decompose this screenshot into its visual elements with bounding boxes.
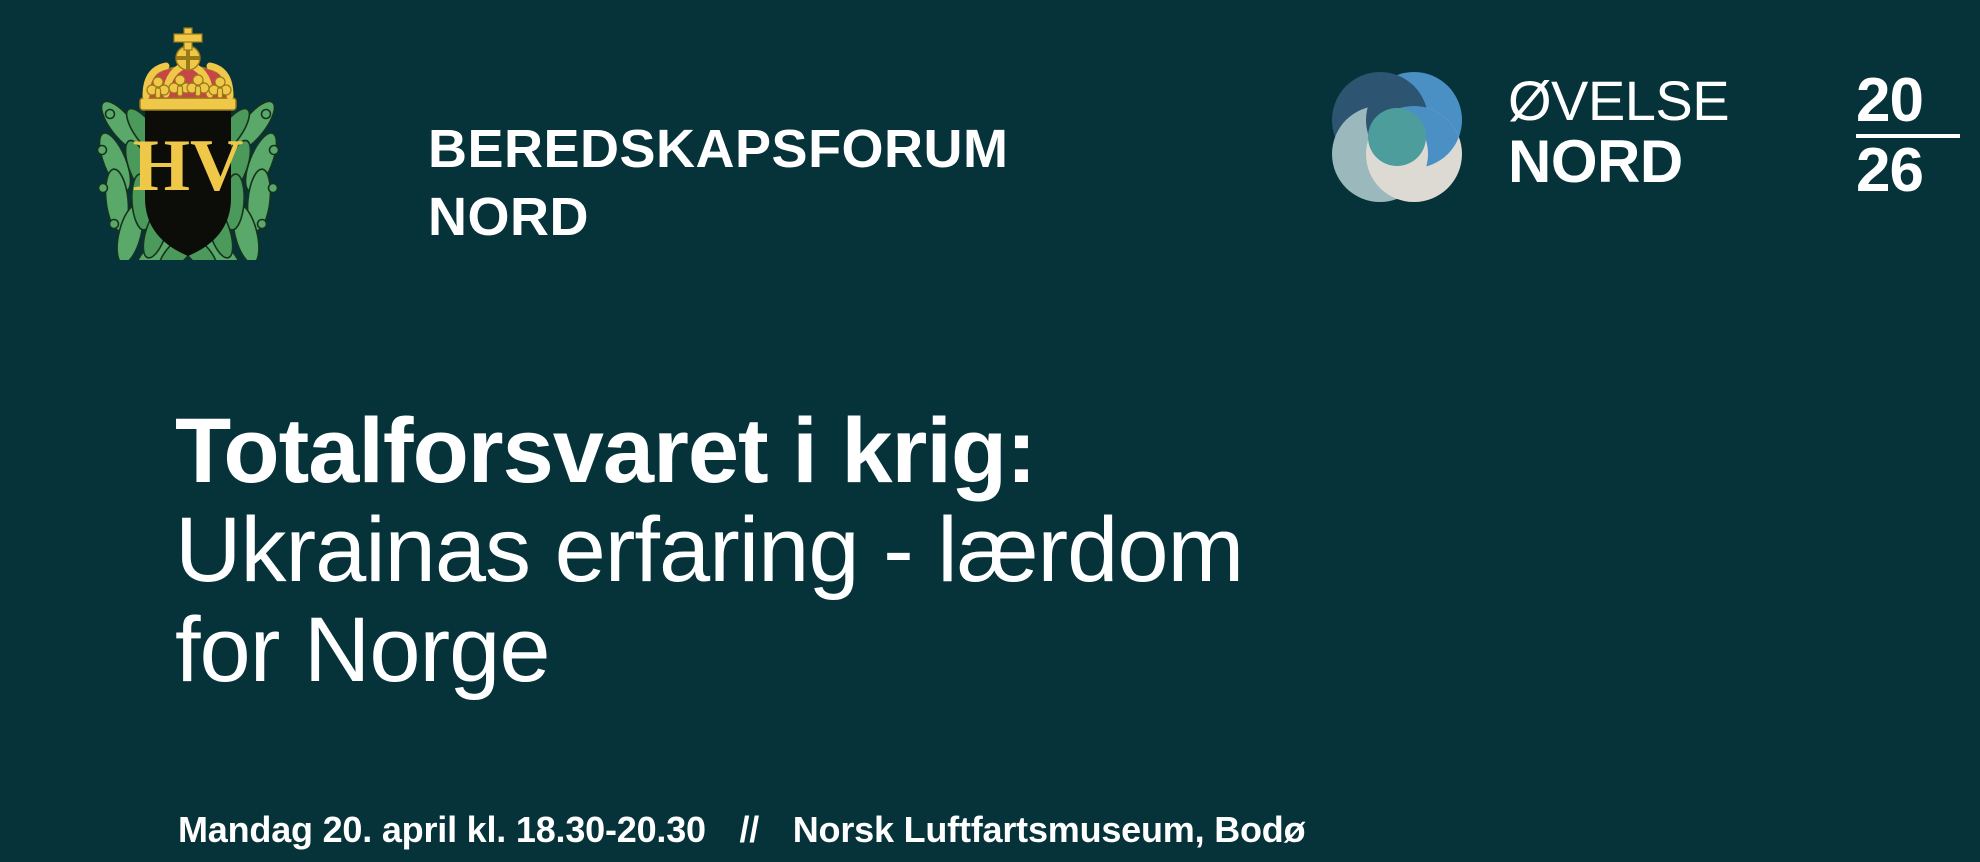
event-datetime: Mandag 20. april kl. 18.30-20.30 (178, 809, 706, 850)
poster-canvas: HV (0, 0, 1980, 862)
ovelse-word: ØVELSE (1508, 74, 1729, 129)
headline-line-3: for Norge (175, 601, 1775, 700)
event-venue: Norsk Luftfartsmuseum, Bodø (793, 809, 1306, 850)
nord-word: NORD (1508, 133, 1683, 192)
ovelse-nord-wordmark: ØVELSE NORD (1508, 74, 1729, 192)
hv-shield-text: HV (133, 125, 244, 207)
beredskapsforum-line-1: BEREDSKAPSFORUM (428, 122, 1009, 176)
hv-heimevernet-emblem-icon: HV (88, 22, 288, 260)
beredskapsforum-line-2: NORD (428, 190, 1009, 244)
ovelse-row: ØVELSE (1508, 74, 1729, 129)
event-separator: // (740, 809, 760, 850)
ovelse-nord-swirl-logo-icon (1318, 58, 1476, 216)
headline-line-2: Ukrainas erfaring - lærdom (175, 501, 1775, 600)
headline-line-1: Totalforsvaret i krig: (175, 402, 1775, 501)
year-bottom: 26 (1856, 140, 1968, 202)
poster-header: HV (0, 0, 1980, 270)
year-top: 20 (1856, 70, 1968, 132)
beredskapsforum-nord-wordmark: BEREDSKAPSFORUM NORD (428, 122, 1009, 244)
nord-row: NORD (1508, 133, 1729, 192)
page-title: Totalforsvaret i krig: Ukrainas erfaring… (175, 402, 1775, 700)
ovelse-nord-year-stack: 20 26 (1856, 70, 1968, 202)
event-details: Mandag 20. april kl. 18.30-20.30 // Nors… (178, 810, 1305, 850)
